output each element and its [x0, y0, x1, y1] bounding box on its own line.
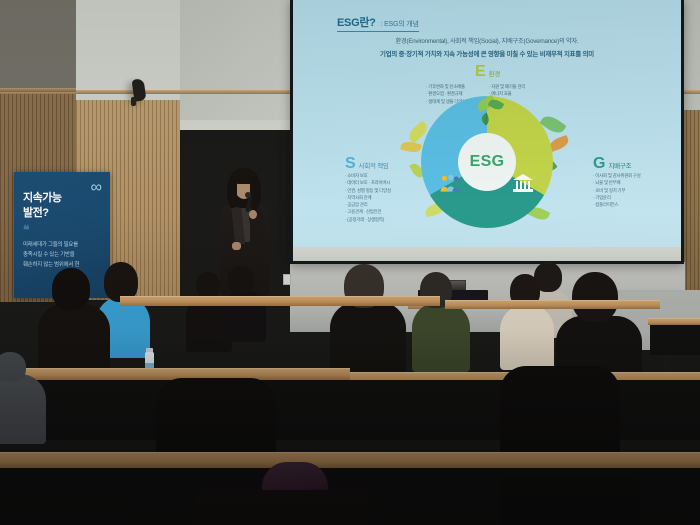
section-name-g: 지배구조	[608, 160, 631, 170]
section-letter-g: G	[593, 156, 605, 172]
donut-center-label: ESG	[458, 133, 516, 191]
audience-head	[196, 272, 220, 298]
wainscot-rail-left	[0, 88, 76, 92]
desk-row-1-foreground	[0, 452, 700, 468]
audience-head	[228, 266, 254, 294]
list-item: 데이터 보호 · 프라이버시	[345, 179, 391, 186]
banner-title-line-2: 발전?	[23, 204, 48, 220]
list-item: 공급망 관리	[345, 201, 391, 208]
slide-title-main: ESG란?	[337, 14, 376, 30]
leaf-icon	[400, 140, 422, 155]
quote-mark-icon: ❝	[23, 226, 29, 234]
section-heading-g: G 지배구조	[593, 156, 631, 172]
infinity-icon: ∞	[91, 180, 102, 196]
side-table-top	[648, 318, 700, 325]
list-item: 고용관계 · 산업안전	[345, 208, 391, 215]
wall-upper-left	[0, 0, 76, 92]
audience-head	[0, 352, 26, 382]
banner-body-text: 미래세대가 그들의 필요를 충족시킬 수 있는 기반을 훼손하지 않는 범위에서…	[23, 240, 103, 270]
slide-subtitle-line-2: 기업의 중·장기적 가치와 지속 가능성에 큰 영향을 미칠 수 있는 비재무적…	[293, 49, 681, 58]
section-heading-s: S 사회적 책임	[345, 156, 389, 172]
list-item: 지역사회 관계	[345, 194, 391, 201]
section-bullets-s: 소비자 보호 데이터 보호 · 프라이버시 인권, 성별 평등 및 다양성 지역…	[345, 172, 391, 223]
list-item: 자원 및 폐기물 관리	[489, 83, 525, 90]
audience-torso	[500, 366, 620, 456]
esg-center-text: ESG	[470, 153, 505, 171]
audience-torso	[156, 378, 276, 456]
chair-foreground-right	[500, 478, 640, 525]
slide-subtitle-line-1: 환경(Environmental), 사회적 책임(Social), 지배구조(…	[293, 36, 681, 45]
section-bullets-g: 이사회 및 감사위원회 구성 뇌물 및 반부패 로비 및 정치 기부 기업윤리 …	[593, 172, 641, 208]
audience-head	[572, 272, 618, 322]
audience-torso	[0, 374, 46, 444]
wall-speaker-arm	[131, 97, 136, 106]
list-item: 이사회 및 감사위원회 구성	[593, 172, 641, 179]
presenter-hair-right	[250, 176, 261, 210]
presenter-hand-right	[249, 210, 257, 219]
slide-title: ESG란? : ESG의 개념	[337, 14, 419, 32]
chair-foreground	[196, 490, 366, 525]
projected-slide: ESG란? : ESG의 개념 환경(Environmental), 사회적 책…	[293, 0, 681, 261]
people-icon	[439, 174, 461, 192]
list-item: 인권, 성별 평등 및 다양성	[345, 187, 391, 194]
classroom-scene: ESG란? : ESG의 개념 환경(Environmental), 사회적 책…	[0, 0, 700, 525]
audience-torso	[500, 304, 554, 370]
section-name-e: 환경	[489, 68, 500, 78]
microphone-head	[245, 192, 251, 198]
projection-screen-frame: ESG란? : ESG의 개념 환경(Environmental), 사회적 책…	[290, 0, 684, 264]
wall-upper-mid	[76, 0, 180, 100]
banner-body-line-2: 충족시킬 수 있는 기반을	[23, 250, 103, 260]
side-table-panel	[650, 325, 700, 355]
list-item: 로비 및 정치 기부	[593, 187, 641, 194]
banner-title-line-1: 지속가능	[23, 189, 61, 205]
banner-body-line-1: 미래세대가 그들의 필요를	[23, 240, 103, 250]
desk-row-3	[120, 296, 440, 306]
section-letter-e: E	[475, 64, 486, 80]
list-item: 기업윤리	[593, 194, 641, 201]
list-item: 소비자 보호	[345, 172, 391, 179]
desk-row-3-right	[445, 300, 660, 309]
slide-title-sub: : ESG의 개념	[381, 19, 419, 29]
bank-icon	[513, 174, 533, 192]
leaf-icon	[477, 112, 495, 126]
screen-bottom-band	[293, 247, 681, 261]
list-item: 기후변화 및 탄소배출	[426, 83, 466, 90]
presenter-hand-left	[232, 242, 241, 250]
esg-donut-graphic: ESG	[421, 96, 553, 228]
power-outlet-icon	[283, 274, 291, 285]
presenter-hair-left	[227, 176, 237, 208]
list-item: (공정거래 · 상생협력)	[345, 216, 391, 223]
audience-torso	[412, 302, 470, 372]
section-letter-s: S	[345, 156, 356, 172]
audience-head	[52, 268, 90, 310]
section-name-s: 사회적 책임	[359, 160, 389, 170]
list-item: 뇌물 및 반부패	[593, 179, 641, 186]
section-heading-e: E 환경	[475, 64, 500, 80]
list-item: 컴플라이언스	[593, 201, 641, 208]
